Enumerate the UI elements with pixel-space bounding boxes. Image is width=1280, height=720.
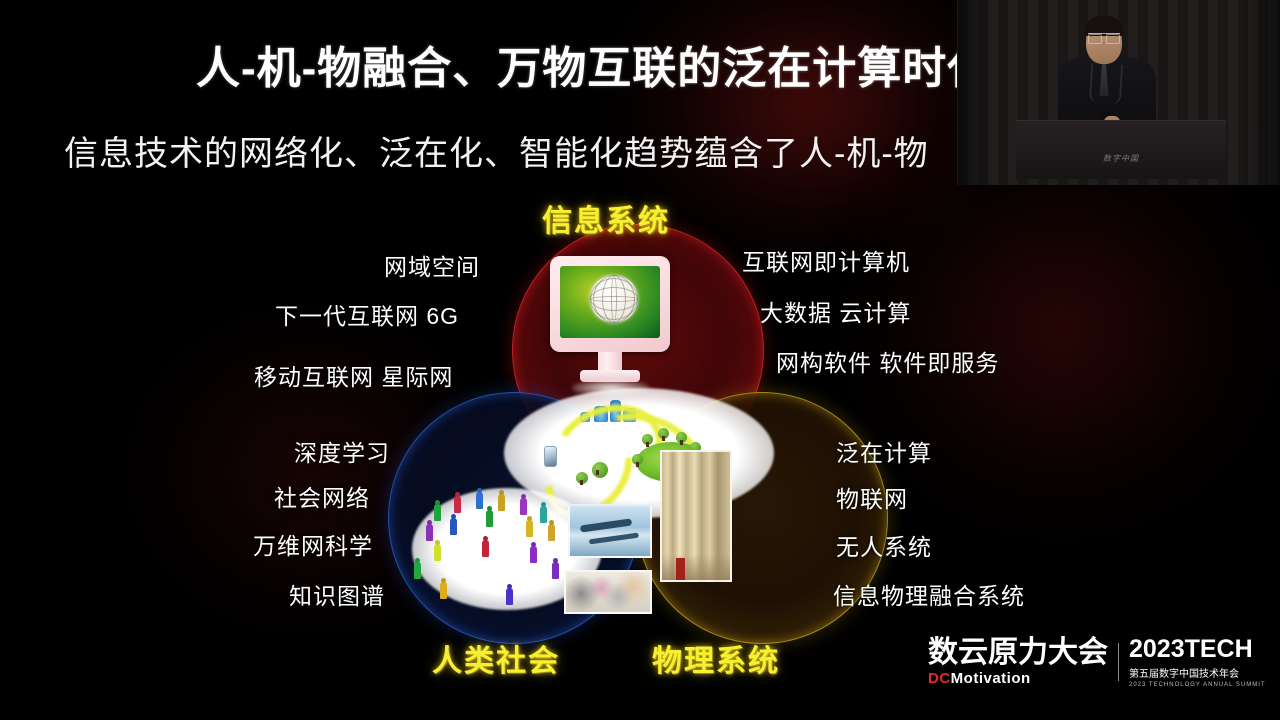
person-figure: [486, 510, 493, 527]
tree-icon: [592, 462, 608, 478]
keyword-label-bottom-right-4: 信息物理融合系统: [833, 577, 1025, 611]
crowd-photo-thumbnail: [564, 570, 652, 614]
person-figure: [434, 544, 441, 561]
tree-icon: [576, 472, 588, 484]
speaker-lanyard: [1089, 63, 1123, 105]
monitor-bezel: [550, 256, 670, 352]
keyword-label-top-left-2: 下一代互联网 6G: [275, 297, 459, 331]
person-figure: [454, 496, 461, 513]
venn-caption-human-society: 人类社会: [432, 636, 560, 680]
logo-brand-block: 数云原力大会 DCMotivation: [928, 638, 1108, 687]
keyword-label-bottom-left-1: 深度学习: [294, 434, 390, 468]
keyword-label-bottom-right-3: 无人系统: [836, 528, 932, 562]
keyword-label-bottom-left-2: 社会网络: [274, 479, 370, 513]
keyword-label-bottom-right-2: 物联网: [836, 480, 908, 514]
logo-year-tech: 2023TECH: [1129, 637, 1266, 662]
venn-caption-physical-system: 物理系统: [652, 636, 780, 680]
mobile-phone-icon: [544, 446, 557, 467]
logo-brand-cn: 数云原力大会: [928, 638, 1108, 668]
keyword-label-top-right-2: 大数据 云计算: [760, 294, 911, 328]
person-figure: [506, 588, 513, 605]
venn-caption-information-system: 信息系统: [542, 196, 670, 240]
person-figure: [530, 546, 537, 563]
tree-icon: [642, 434, 653, 445]
logo-brand-en-prefix: DC: [928, 670, 951, 687]
monitor-screen: [560, 266, 660, 338]
person-figure: [520, 498, 527, 515]
logo-brand-en: DCMotivation: [928, 670, 1108, 687]
keyword-label-bottom-right-1: 泛在计算: [836, 434, 932, 468]
monitor-glow: [572, 380, 650, 396]
tree-icon: [632, 454, 643, 465]
speaker-glasses-icon: [1088, 33, 1120, 42]
logo-event-en: 2023 TECHNOLOGY ANNUAL SUMMIT: [1129, 682, 1266, 688]
computer-monitor-icon: [550, 256, 670, 386]
presentation-slide: 人-机-物融合、万物互联的泛在计算时代 信息技术的网络化、泛在化、智能化趋势蕴含…: [0, 0, 1280, 720]
podium: 数字中国: [1016, 120, 1226, 179]
logo-event-cn: 第五届数字中国技术年会: [1129, 665, 1266, 680]
keyword-label-bottom-left-3: 万维网科学: [253, 527, 373, 561]
person-figure: [476, 492, 483, 509]
person-figure: [526, 520, 533, 537]
person-figure: [552, 562, 559, 579]
logo-event-block: 2023TECH 第五届数字中国技术年会 2023 TECHNOLOGY ANN…: [1129, 637, 1266, 688]
monitor-neck: [598, 352, 622, 372]
slide-subtitle: 信息技术的网络化、泛在化、智能化趋势蕴含了人-机-物: [64, 126, 929, 175]
keyword-label-top-right-1: 互联网即计算机: [742, 243, 910, 277]
keyword-label-top-right-3: 网构软件 软件即服务: [776, 344, 999, 378]
globe-icon: [590, 275, 638, 323]
tree-icon: [676, 432, 687, 443]
person-figure: [482, 540, 489, 557]
podium-label: 数字中国: [1016, 153, 1226, 164]
person-figure: [540, 506, 547, 523]
skyscraper-photo-thumbnail: [660, 450, 732, 582]
conference-logo: 数云原力大会 DCMotivation 2023TECH 第五届数字中国技术年会…: [928, 634, 1266, 690]
aircraft-photo-thumbnail: [568, 504, 652, 558]
speaker-video-overlay[interactable]: 数字中国: [957, 0, 1280, 185]
person-figure: [434, 504, 441, 521]
person-figure: [450, 518, 457, 535]
person-figure: [548, 524, 555, 541]
logo-divider: [1118, 643, 1119, 681]
keyword-label-top-left-3: 移动互联网 星际网: [254, 358, 453, 392]
tree-icon: [658, 428, 669, 439]
keyword-label-top-left-1: 网域空间: [384, 248, 480, 282]
person-figure: [414, 562, 421, 579]
slide-title: 人-机-物融合、万物互联的泛在计算时代: [196, 32, 992, 96]
person-figure: [426, 524, 433, 541]
person-figure: [440, 582, 447, 599]
logo-brand-en-suffix: Motivation: [951, 670, 1031, 687]
person-figure: [498, 494, 505, 511]
keyword-label-bottom-left-4: 知识图谱: [289, 577, 385, 611]
